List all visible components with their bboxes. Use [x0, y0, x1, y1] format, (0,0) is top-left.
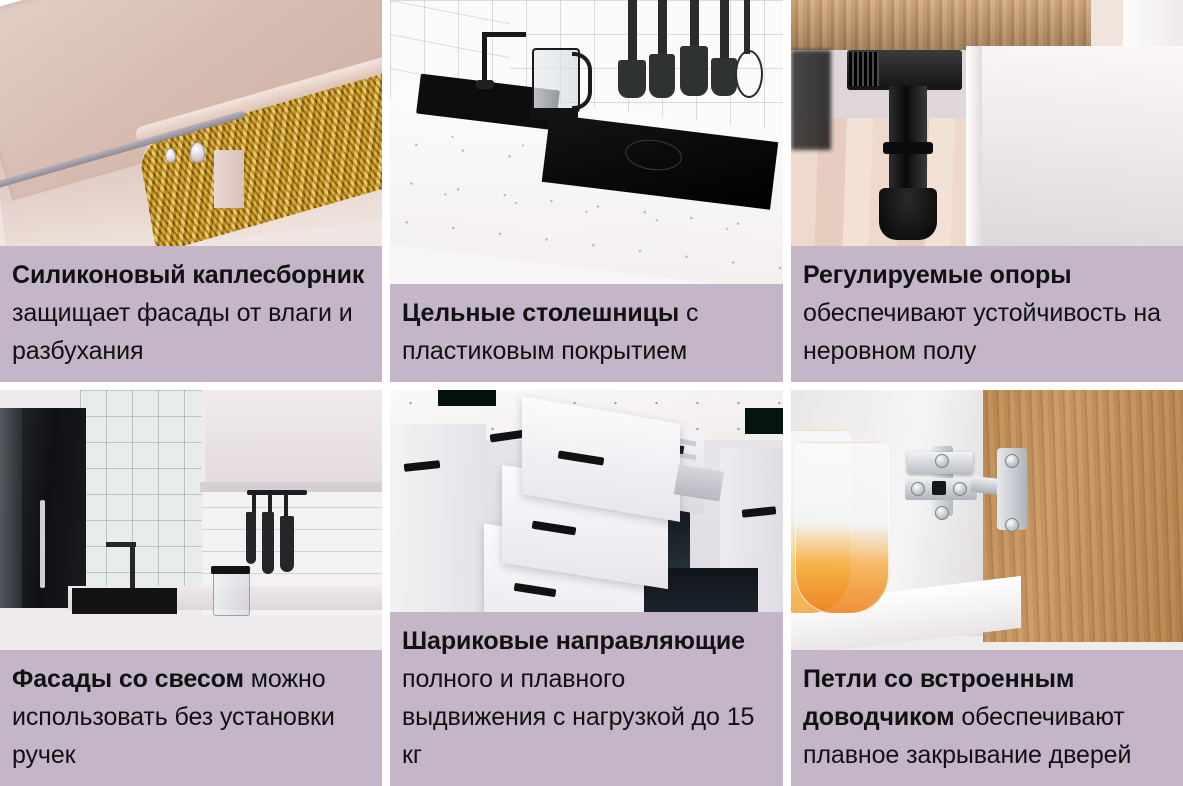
feature-panel-1[interactable]: Силиконовый каплесборник защищает фасады…	[0, 0, 382, 382]
panel-5-caption-bold: Шариковые направляющие	[402, 627, 745, 655]
panel-3-caption-bold: Регулируемые опоры	[803, 261, 1071, 289]
panel-2-caption-bold: Цельные столешницы	[402, 299, 679, 327]
panel-1-caption-regular: защищает фасады от влаги и разбухания	[12, 299, 353, 365]
feature-panel-3[interactable]: Регулируемые опоры обеспечивают устойчив…	[791, 0, 1183, 382]
feature-grid: Силиконовый каплесборник защищает фасады…	[0, 0, 1183, 786]
feature-panel-6[interactable]: Петли со встроенным доводчиком обеспечив…	[791, 390, 1183, 786]
panel-3-caption: Регулируемые опоры обеспечивают устойчив…	[791, 246, 1183, 382]
feature-panel-5[interactable]: Шариковые направляющие полного и плавног…	[390, 390, 783, 786]
panel-4-caption: Фасады со свесом можно использовать без …	[0, 650, 382, 786]
feature-panel-4[interactable]: Фасады со свесом можно использовать без …	[0, 390, 382, 786]
panel-6-caption: Петли со встроенным доводчиком обеспечив…	[791, 650, 1183, 786]
panel-3-caption-regular: обеспечивают устойчивость на неровном по…	[803, 299, 1161, 365]
panel-2-caption: Цельные столешницы с пластиковым покрыти…	[390, 284, 783, 382]
panel-1-caption-bold: Силиконовый каплесборник	[12, 261, 364, 289]
panel-4-caption-bold: Фасады со свесом	[12, 665, 244, 693]
panel-5-caption: Шариковые направляющие полного и плавног…	[390, 612, 783, 786]
feature-panel-2[interactable]: Цельные столешницы с пластиковым покрыти…	[390, 0, 783, 382]
panel-1-caption: Силиконовый каплесборник защищает фасады…	[0, 246, 382, 382]
panel-5-caption-regular: полного и плавного выдвижения с нагрузко…	[402, 665, 754, 769]
